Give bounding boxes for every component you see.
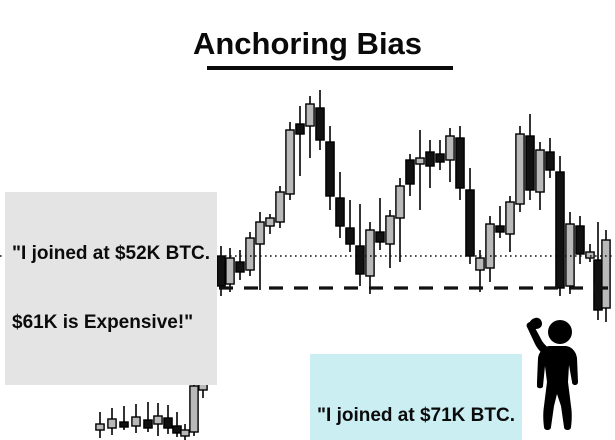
candle-body [356,246,364,274]
page-title-wrap: Anchoring Bias [0,26,615,62]
candle-body [286,130,294,194]
candle-body [406,160,414,184]
candle-body [154,416,162,424]
candle-body [476,258,484,270]
candle-body [426,152,434,166]
candle-body [256,222,264,244]
candle-body [316,108,324,140]
candle-body [594,260,602,310]
candle-body [173,426,181,433]
callout-anchor-low-line1: "I joined at $52K BTC. [12,242,210,265]
candle-body [226,258,234,284]
candle-body [296,124,304,134]
candle-body [96,424,104,430]
candle-body [336,198,344,226]
candle-body [386,216,394,244]
callout-anchor-low-line2: $61K is Expensive!" [12,311,210,334]
candle-body [416,158,424,164]
person-arm-raised-silhouette [516,310,588,432]
candle-body [486,224,494,268]
candle-body [164,418,172,428]
candle-body [536,150,544,192]
candle-body [496,226,504,232]
infographic-canvas: Anchoring Bias "I joined at $52K BTC. $6… [0,0,615,440]
candle-body [132,417,140,426]
candle-body [246,238,254,270]
candle-body [190,386,198,432]
candle-body [120,422,128,427]
candle-body [306,104,314,126]
candle-body [576,226,584,254]
candle-body [566,224,574,286]
candle-body [602,240,610,308]
callout-anchor-high: "I joined at $71K BTC. $61K is cheap!" [310,354,522,440]
callout-anchor-high-line1: "I joined at $71K BTC. [317,404,515,427]
candle-body [436,154,444,162]
candle-body [586,252,594,258]
callout-anchor-low: "I joined at $52K BTC. $61K is Expensive… [5,192,217,385]
candle-body [326,142,334,196]
candle-body [516,134,524,204]
page-title: Anchoring Bias [193,26,422,62]
candle-body [546,152,554,170]
candle-body [346,228,354,244]
candle-body [456,138,464,188]
candle-body [376,232,384,242]
candle-body [446,136,454,160]
candle-body [181,430,189,436]
candle-body [556,172,564,288]
candle-body [276,192,284,222]
candle-body [144,420,152,428]
candle-body [236,262,244,272]
candle-body [217,256,225,286]
candle-body [466,190,474,256]
candle-body [266,218,274,226]
candle-body [366,230,374,276]
candle-body [396,186,404,218]
candle-body [506,202,514,234]
candle-body [108,419,116,428]
title-underline [207,66,453,70]
candle-body [526,136,534,190]
